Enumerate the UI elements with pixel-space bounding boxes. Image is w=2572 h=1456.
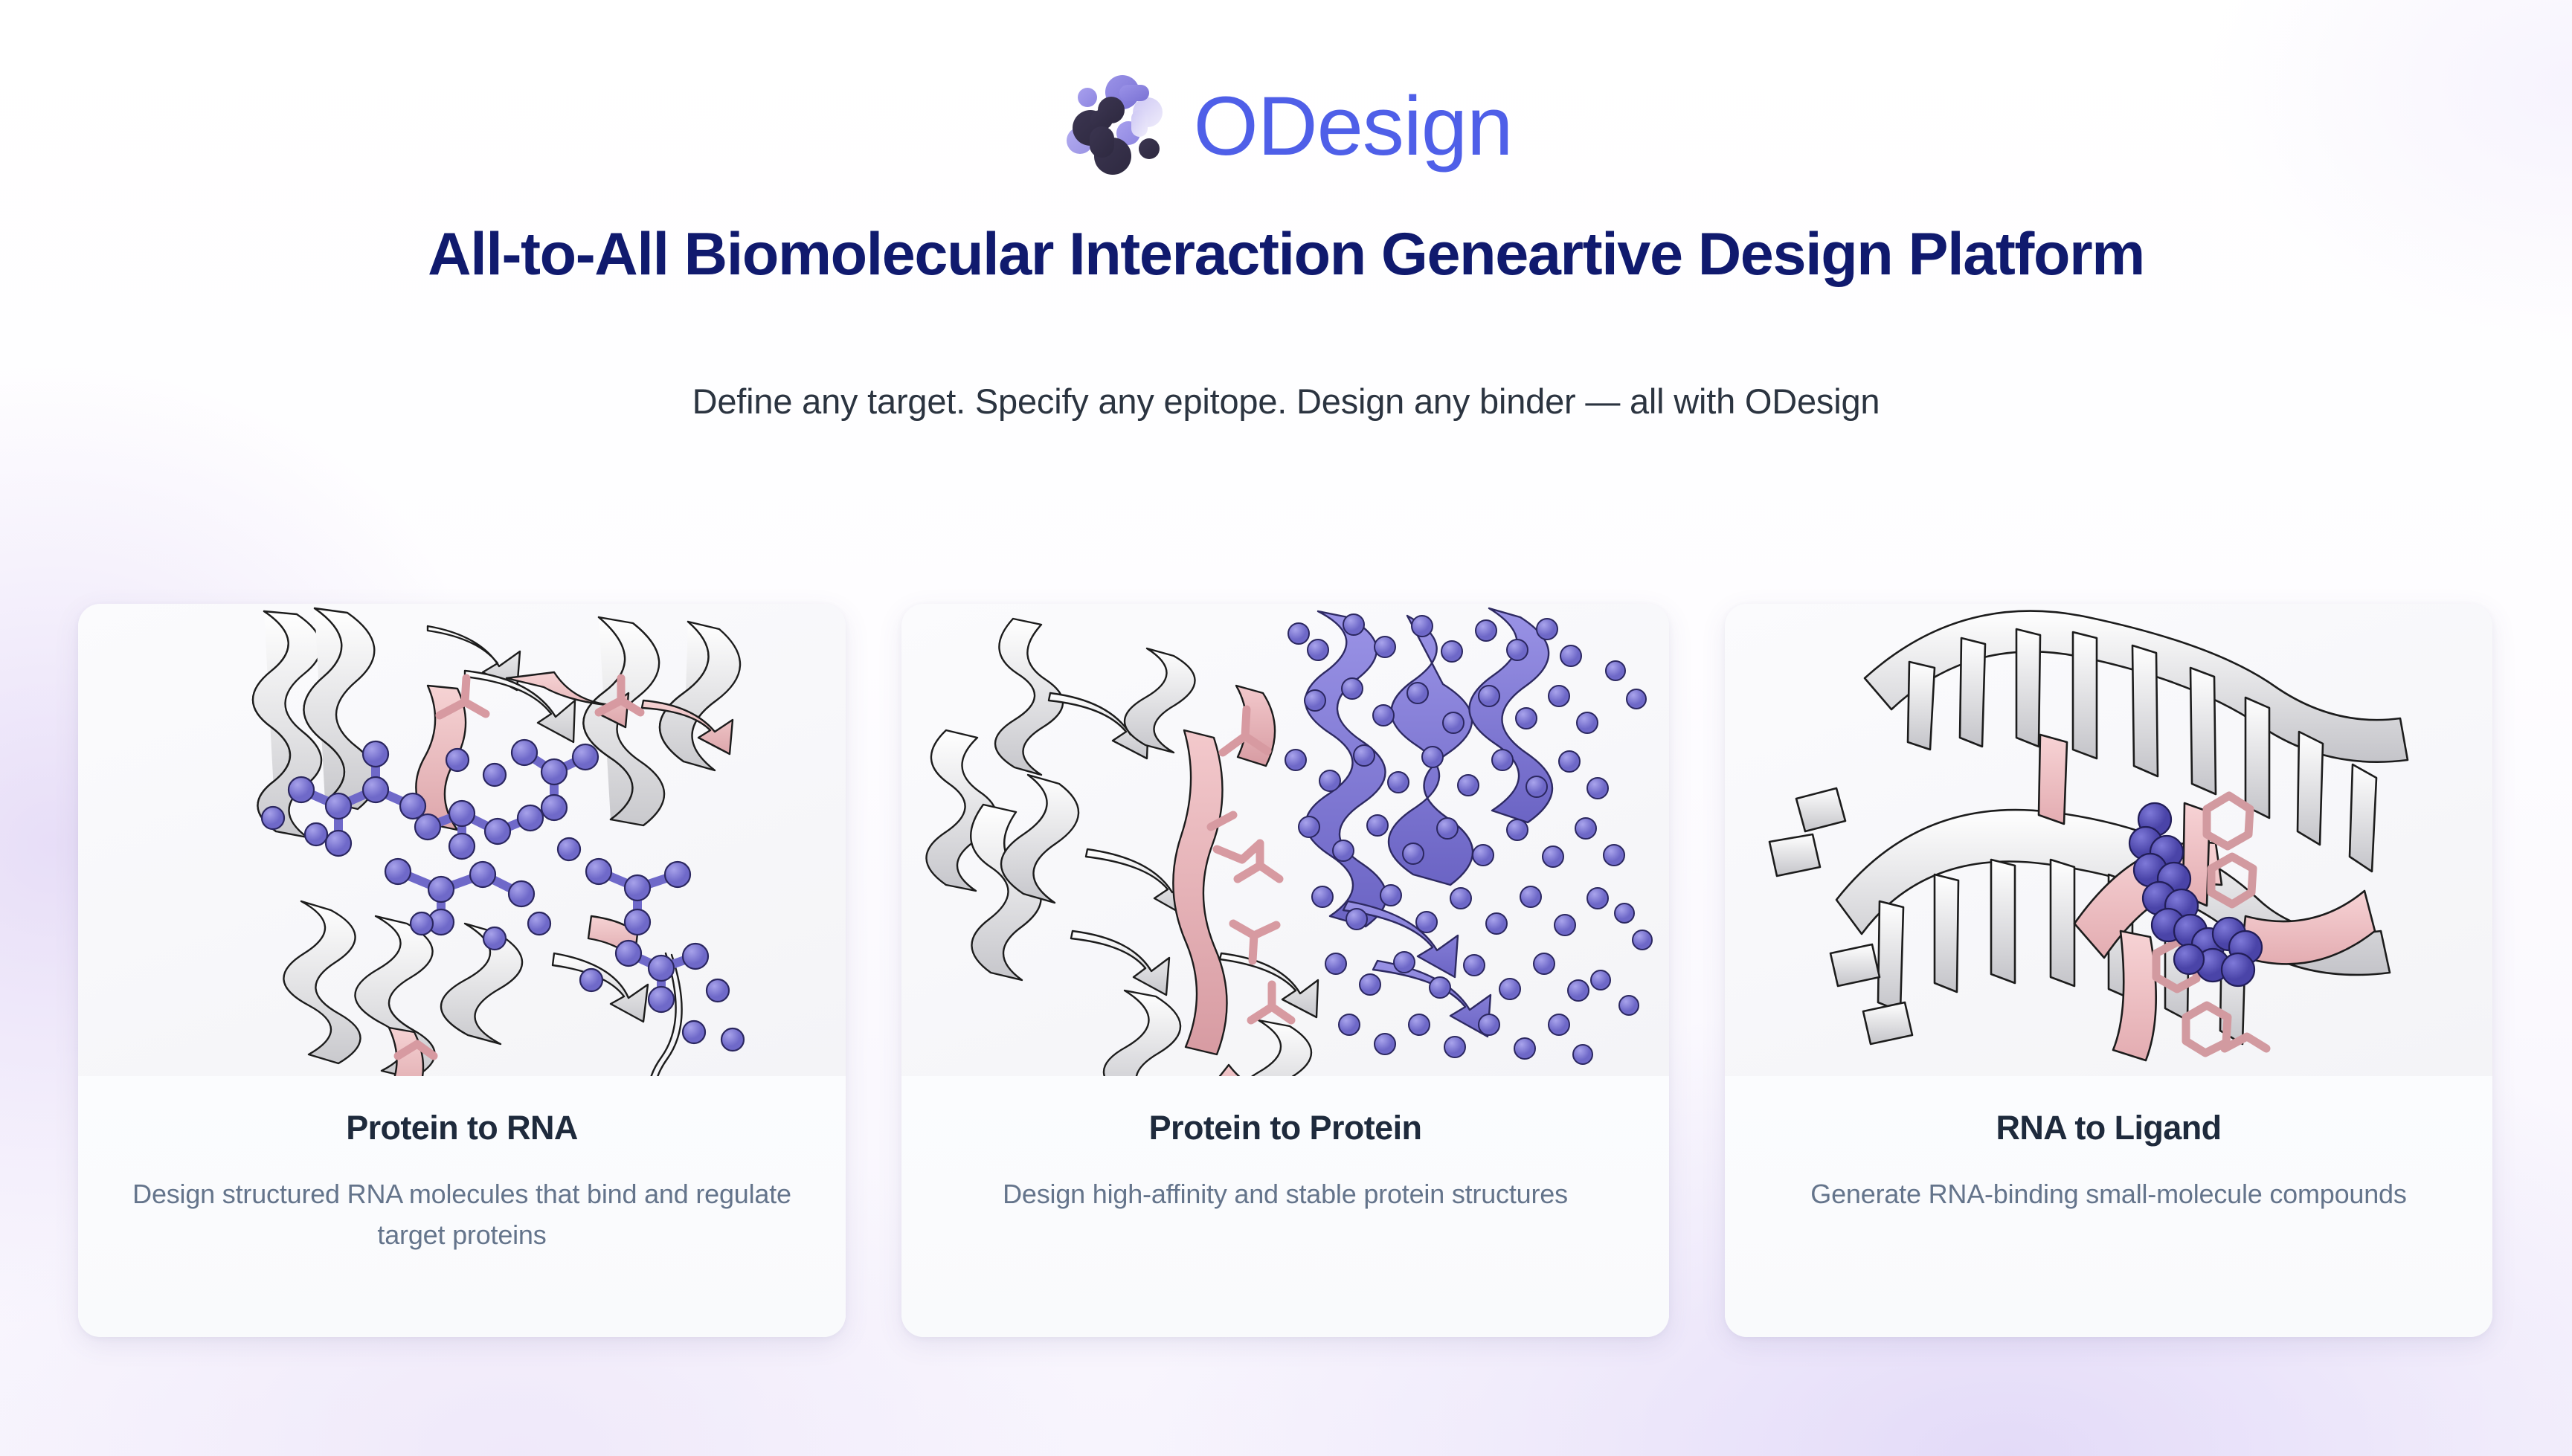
card-title: Protein to RNA (112, 1109, 811, 1147)
feature-card-protein-to-rna[interactable]: Protein to RNA Design structured RNA mol… (78, 604, 846, 1337)
brand-name: ODesign (1194, 85, 1513, 168)
card-text-area: Protein to RNA Design structured RNA mol… (78, 1076, 846, 1337)
card-description: Design high-affinity and stable protein … (936, 1174, 1635, 1215)
feature-card-protein-to-protein[interactable]: Protein to Protein Design high-affinity … (901, 604, 1669, 1337)
feature-card-rna-to-ligand[interactable]: RNA to Ligand Generate RNA-binding small… (1725, 604, 2492, 1337)
brand-header: ODesign (0, 71, 2572, 175)
rna-ligand-structure-image (1725, 604, 2492, 1076)
card-text-area: Protein to Protein Design high-affinity … (901, 1076, 1669, 1337)
molecule-nodes-icon (1060, 71, 1171, 175)
card-description: Generate RNA-binding small-molecule comp… (1759, 1174, 2458, 1215)
landing-page: ODesign All-to-All Biomolecular Interact… (0, 0, 2572, 1456)
page-title: All-to-All Biomolecular Interaction Gene… (0, 222, 2572, 288)
card-text-area: RNA to Ligand Generate RNA-binding small… (1725, 1076, 2492, 1337)
card-title: Protein to Protein (936, 1109, 1635, 1147)
card-title: RNA to Ligand (1759, 1109, 2458, 1147)
protein-rna-structure-image (78, 604, 846, 1076)
feature-card-grid: Protein to RNA Design structured RNA mol… (78, 604, 2494, 1337)
protein-protein-structure-image (901, 604, 1669, 1076)
page-subtitle: Define any target. Specify any epitope. … (0, 378, 2572, 425)
card-description: Design structured RNA molecules that bin… (112, 1174, 811, 1255)
